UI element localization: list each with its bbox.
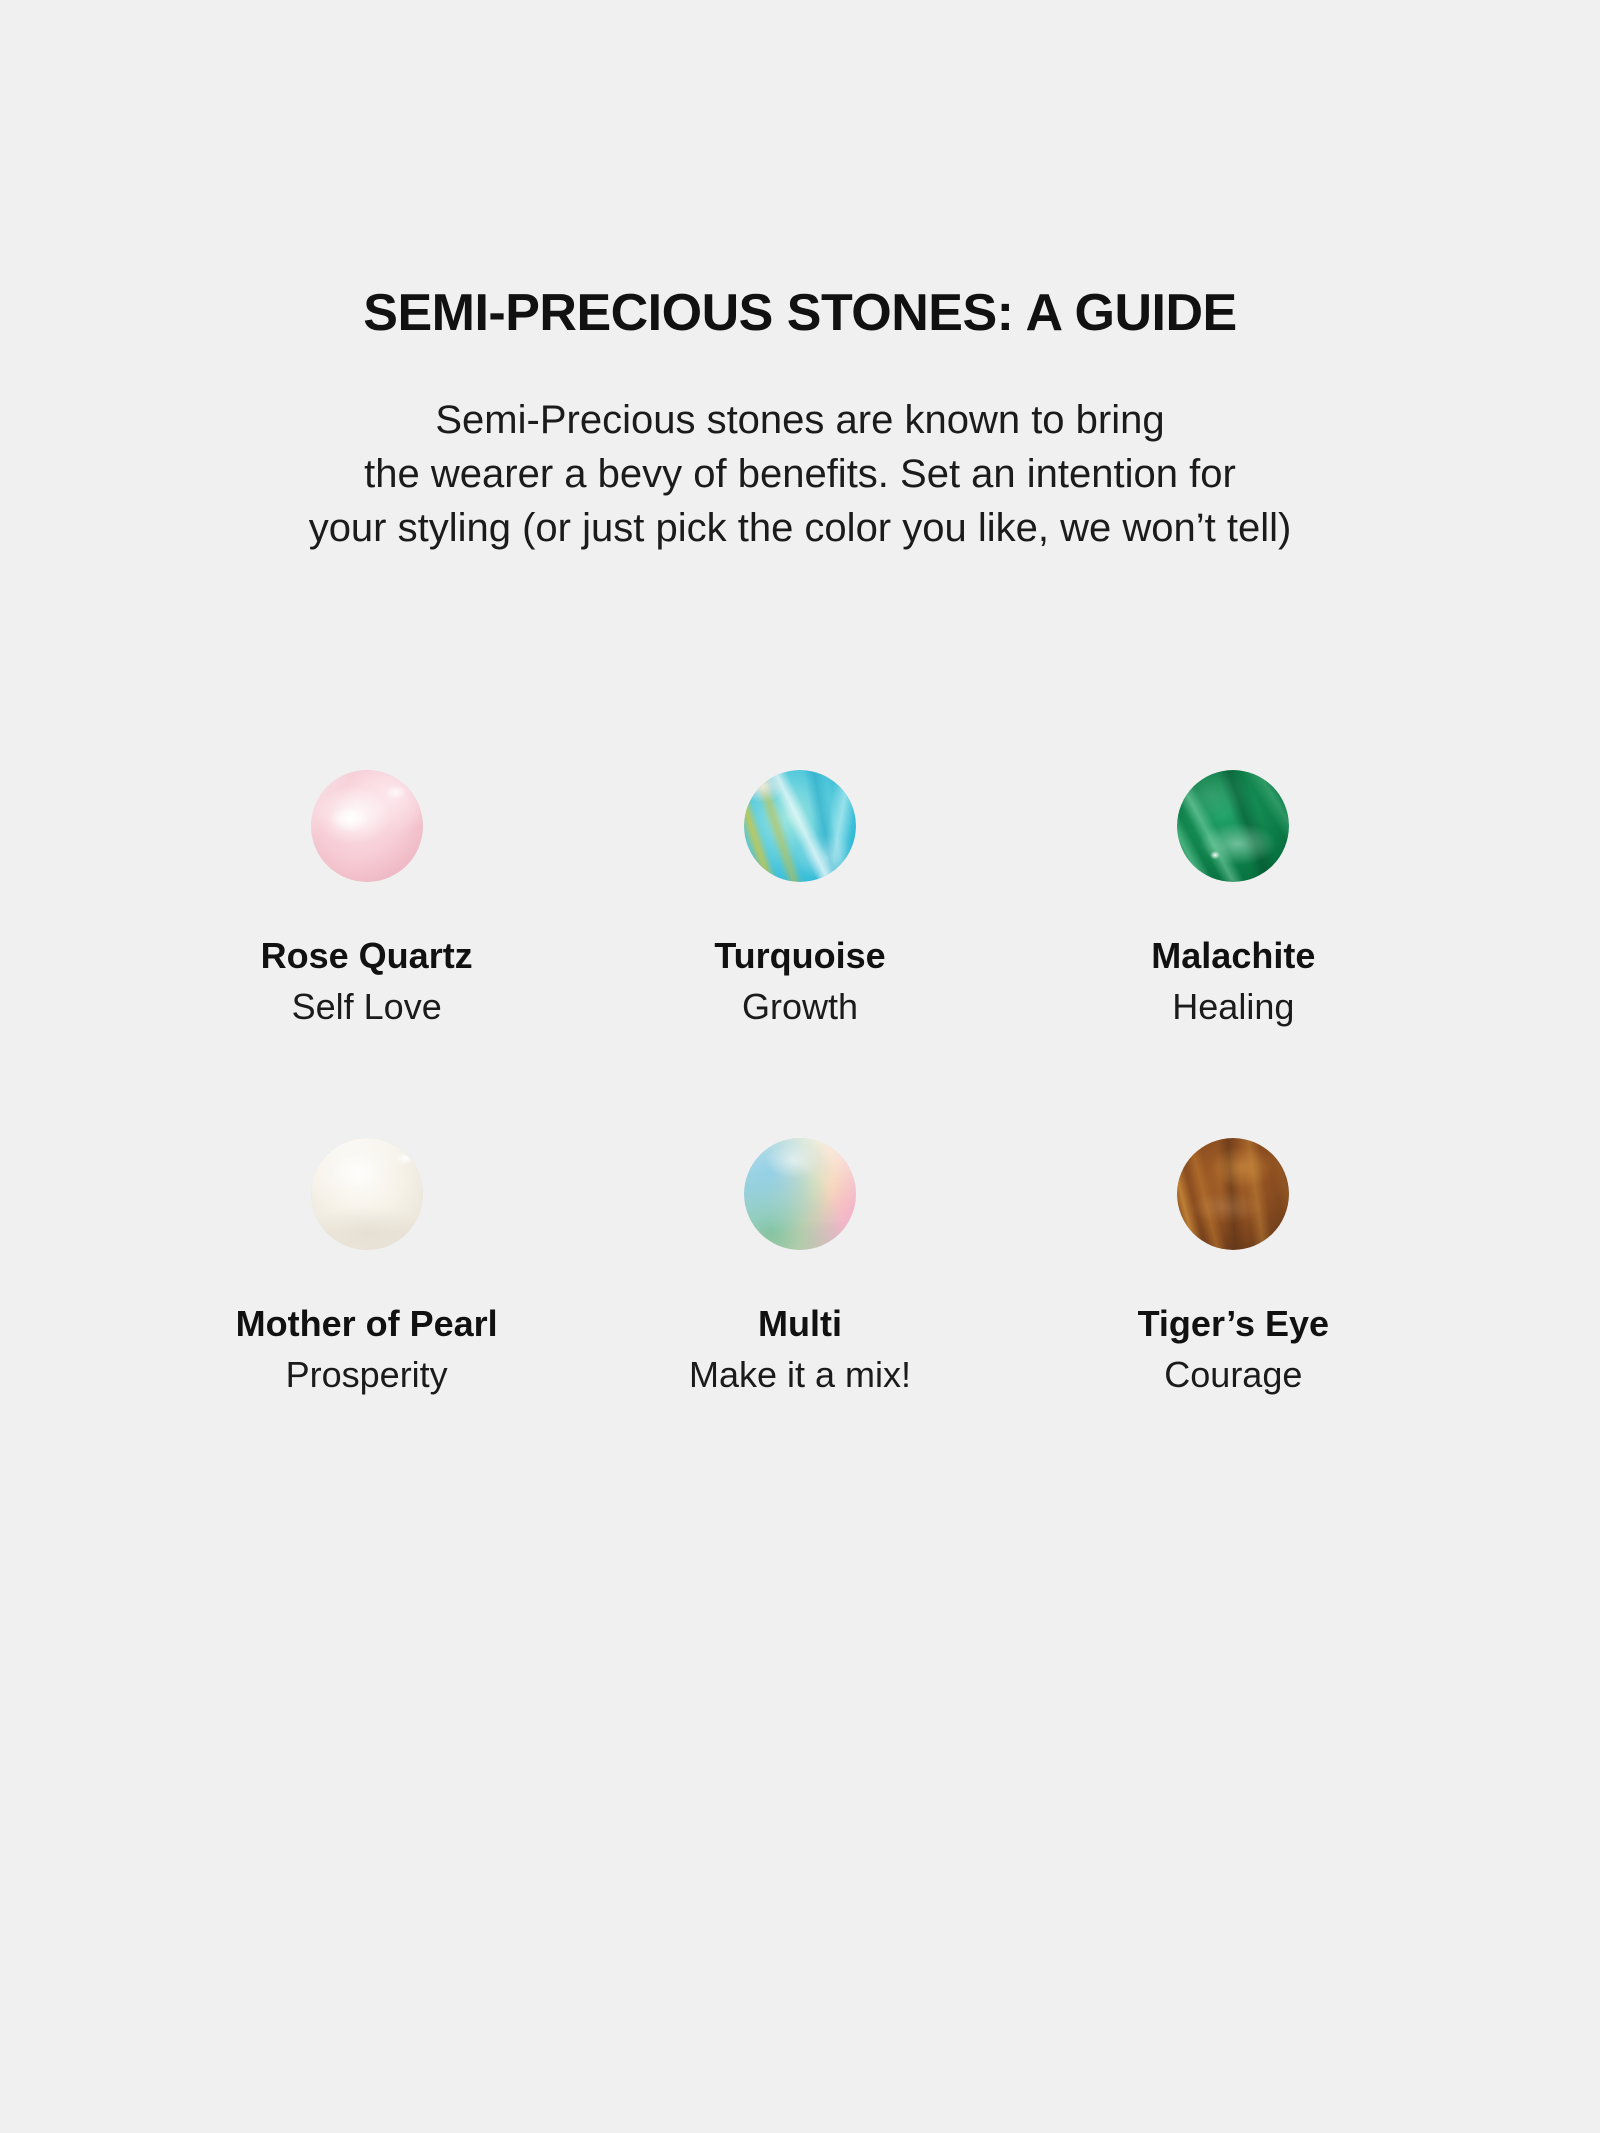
stone-grid: Rose Quartz Self Love Turquoise Growth M… — [150, 770, 1450, 1396]
stone-card-turquoise[interactable]: Turquoise Growth — [583, 770, 1016, 1028]
stone-name-rose-quartz: Rose Quartz — [261, 882, 473, 976]
stone-card-rose-quartz[interactable]: Rose Quartz Self Love — [150, 770, 583, 1028]
tigers-eye-highlight — [1177, 1138, 1289, 1250]
stone-name-turquoise: Turquoise — [714, 882, 885, 976]
tigers-eye-stone-swatch[interactable] — [1177, 1138, 1289, 1250]
stone-card-malachite[interactable]: Malachite Healing — [1017, 770, 1450, 1028]
rose-quartz-stone-swatch[interactable] — [311, 770, 423, 882]
stone-card-tigers-eye[interactable]: Tiger’s Eye Courage — [1017, 1138, 1450, 1396]
mother-of-pearl-stone-swatch[interactable] — [311, 1138, 423, 1250]
stone-benefit-multi: Make it a mix! — [689, 1344, 911, 1395]
stone-benefit-mother-of-pearl: Prosperity — [286, 1344, 448, 1395]
stone-benefit-rose-quartz: Self Love — [292, 976, 442, 1027]
stone-benefit-turquoise: Growth — [742, 976, 858, 1027]
intro-line-2: the wearer a bevy of benefits. Set an in… — [0, 447, 1600, 501]
stone-name-multi: Multi — [758, 1250, 842, 1344]
turquoise-highlight — [744, 770, 856, 882]
stone-name-tigers-eye: Tiger’s Eye — [1138, 1250, 1329, 1344]
malachite-highlight — [1177, 770, 1289, 882]
guide-header: SEMI-PRECIOUS STONES: A GUIDE Semi-Preci… — [0, 286, 1600, 555]
turquoise-stone-swatch[interactable] — [744, 770, 856, 882]
mother-of-pearl-highlight — [311, 1138, 423, 1250]
stone-card-mother-of-pearl[interactable]: Mother of Pearl Prosperity — [150, 1138, 583, 1396]
rose-quartz-highlight — [311, 770, 423, 882]
guide-intro-paragraph: Semi-Precious stones are known to bring … — [0, 341, 1600, 555]
multi-stone-swatch[interactable] — [744, 1138, 856, 1250]
stone-guide-page: SEMI-PRECIOUS STONES: A GUIDE Semi-Preci… — [0, 0, 1600, 2133]
stone-name-malachite: Malachite — [1151, 882, 1315, 976]
stone-benefit-tigers-eye: Courage — [1164, 1344, 1302, 1395]
stone-card-multi[interactable]: Multi Make it a mix! — [583, 1138, 1016, 1396]
stone-name-mother-of-pearl: Mother of Pearl — [236, 1250, 498, 1344]
intro-line-3: your styling (or just pick the color you… — [0, 501, 1600, 555]
multi-highlight — [744, 1138, 856, 1250]
page-title: SEMI-PRECIOUS STONES: A GUIDE — [0, 286, 1600, 341]
malachite-stone-swatch[interactable] — [1177, 770, 1289, 882]
stone-benefit-malachite: Healing — [1172, 976, 1294, 1027]
intro-line-1: Semi-Precious stones are known to bring — [0, 393, 1600, 447]
